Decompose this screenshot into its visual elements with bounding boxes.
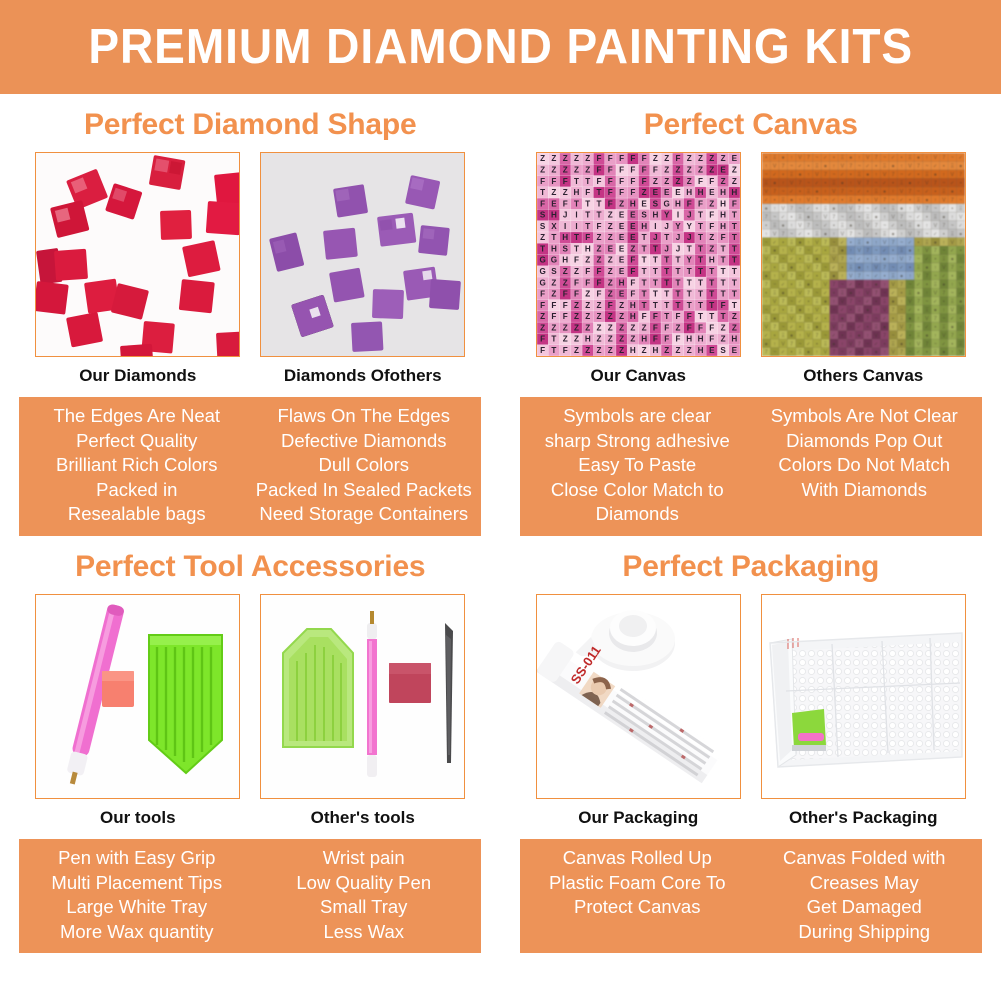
svg-text:Z: Z <box>608 312 613 321</box>
svg-text:✓: ✓ <box>789 324 793 330</box>
svg-text:T: T <box>664 301 669 310</box>
facts-box-diamond-shape: The Edges Are Neat Perfect Quality Brill… <box>19 397 481 536</box>
our-tools-art <box>36 595 240 799</box>
svg-text:T: T <box>698 256 703 265</box>
svg-text:I: I <box>654 222 656 231</box>
svg-text:↑: ↑ <box>900 299 903 305</box>
svg-text:H: H <box>720 199 726 208</box>
svg-text:~: ~ <box>824 198 827 204</box>
svg-text:~: ~ <box>866 206 869 212</box>
svg-text:Z: Z <box>585 165 590 174</box>
other-packaging-art <box>762 595 966 799</box>
svg-text:•: • <box>790 282 792 288</box>
svg-text:Ξ: Ξ <box>908 155 912 161</box>
svg-text:V: V <box>950 307 954 313</box>
svg-text:Ξ: Ξ <box>823 274 827 280</box>
svg-text:•: • <box>765 291 767 297</box>
svg-text:J: J <box>687 233 692 242</box>
svg-text:7: 7 <box>790 341 793 347</box>
svg-text:↑: ↑ <box>883 214 886 220</box>
svg-text:Z: Z <box>608 211 613 220</box>
svg-text:T: T <box>709 301 714 310</box>
svg-text:F: F <box>562 312 567 321</box>
muddy-symbol-grid-art: •Ξ●↑V7~✓•Ξ●↑V7~✓•Ξ●↑V7~✓↑V7~✓•Ξ●↑V7~✓•Ξ●… <box>762 153 965 356</box>
svg-text:7: 7 <box>942 223 945 229</box>
svg-text:Ξ: Ξ <box>840 291 844 297</box>
svg-text:~: ~ <box>781 257 784 263</box>
svg-text:T: T <box>687 290 692 299</box>
svg-text:↑: ↑ <box>951 214 954 220</box>
svg-text:V: V <box>798 223 802 229</box>
svg-text:Z: Z <box>608 222 613 231</box>
svg-text:F: F <box>562 199 567 208</box>
svg-text:•: • <box>875 164 877 170</box>
svg-text:Z: Z <box>574 346 579 355</box>
svg-text:●: ● <box>807 282 810 288</box>
svg-text:T: T <box>720 278 725 287</box>
svg-text:T: T <box>664 256 669 265</box>
svg-text:T: T <box>698 290 703 299</box>
fact-line: Canvas Folded with <box>753 846 976 871</box>
svg-text:Z: Z <box>641 346 646 355</box>
fact-line: Packed In Sealed Packets <box>252 478 475 503</box>
svg-text:7: 7 <box>934 248 937 254</box>
svg-text:7: 7 <box>866 248 869 254</box>
svg-text:J: J <box>687 211 692 220</box>
svg-text:•: • <box>909 198 911 204</box>
svg-text:F: F <box>687 312 692 321</box>
svg-text:✓: ✓ <box>789 189 793 195</box>
svg-text:V: V <box>790 316 794 322</box>
svg-text:Y: Y <box>686 222 692 231</box>
svg-text:~: ~ <box>951 291 954 297</box>
svg-text:Z: Z <box>596 335 601 344</box>
svg-text:Z: Z <box>720 323 725 332</box>
svg-text:↑: ↑ <box>765 299 768 305</box>
svg-text:✓: ✓ <box>865 231 869 237</box>
svg-text:●: ● <box>790 333 793 339</box>
svg-text:~: ~ <box>807 181 810 187</box>
svg-text:7: 7 <box>866 181 869 187</box>
facts-ours-canvas: Symbols are clear sharp Strong adhesive … <box>524 404 751 527</box>
svg-text:✓: ✓ <box>806 206 810 212</box>
svg-text:7: 7 <box>917 299 920 305</box>
svg-text:●: ● <box>900 341 903 347</box>
svg-text:7: 7 <box>908 257 911 263</box>
svg-text:●: ● <box>764 274 767 280</box>
svg-text:Ξ: Ξ <box>891 206 895 212</box>
svg-text:✓: ✓ <box>950 316 954 322</box>
svg-text:Ξ: Ξ <box>764 248 768 254</box>
svg-text:F: F <box>562 177 567 186</box>
svg-text:•: • <box>782 172 784 178</box>
svg-text:↑: ↑ <box>790 291 793 297</box>
svg-text:T: T <box>551 335 556 344</box>
svg-text:•: • <box>807 299 809 305</box>
svg-text:↑: ↑ <box>773 274 776 280</box>
svg-text:V: V <box>959 282 963 288</box>
section-tools: Perfect Tool Accessories <box>0 536 501 953</box>
svg-text:↑: ↑ <box>790 223 793 229</box>
svg-text:~: ~ <box>832 307 835 313</box>
svg-text:•: • <box>799 189 801 195</box>
photo-our-diamonds <box>35 152 240 357</box>
svg-text:7: 7 <box>900 282 903 288</box>
svg-text:7: 7 <box>849 164 852 170</box>
svg-text:✓: ✓ <box>882 248 886 254</box>
svg-text:T: T <box>675 267 680 276</box>
svg-text:F: F <box>664 335 669 344</box>
svg-text:~: ~ <box>883 291 886 297</box>
svg-text:T: T <box>585 199 590 208</box>
svg-text:Ξ: Ξ <box>917 333 921 339</box>
svg-text:T: T <box>551 346 556 355</box>
svg-text:G: G <box>539 278 545 287</box>
svg-text:T: T <box>720 312 725 321</box>
svg-text:V: V <box>773 299 777 305</box>
svg-text:Z: Z <box>619 346 624 355</box>
svg-text:✓: ✓ <box>891 291 895 297</box>
svg-text:Ξ: Ξ <box>832 316 836 322</box>
svg-text:7: 7 <box>807 291 810 297</box>
svg-text:✓: ✓ <box>840 172 844 178</box>
svg-text:↑: ↑ <box>807 240 810 246</box>
svg-text:●: ● <box>790 198 793 204</box>
svg-text:V: V <box>823 282 827 288</box>
svg-text:●: ● <box>764 341 767 347</box>
section-row-1: Perfect Diamond Shape <box>0 94 1001 536</box>
photo-our-canvas: ZZZZZFFFFFZZFZZZZEZZZZZFFFFFFZZZZZEZFFFT… <box>536 152 741 357</box>
svg-text:F: F <box>574 290 579 299</box>
fact-line: Symbols are clear <box>526 404 749 429</box>
caption-our-tools: Our tools <box>35 808 240 828</box>
fact-line: Get Damaged <box>753 895 976 920</box>
svg-text:✓: ✓ <box>848 282 852 288</box>
svg-text:↑: ↑ <box>799 333 802 339</box>
svg-text:●: ● <box>866 307 869 313</box>
svg-text:V: V <box>874 333 878 339</box>
svg-text:V: V <box>790 181 794 187</box>
svg-text:F: F <box>641 177 646 186</box>
svg-text:●: ● <box>908 316 911 322</box>
svg-text:✓: ✓ <box>958 223 962 229</box>
svg-text:T: T <box>540 244 545 253</box>
svg-text:Z: Z <box>574 267 579 276</box>
svg-text:↑: ↑ <box>799 265 802 271</box>
svg-text:●: ● <box>773 181 776 187</box>
svg-text:●: ● <box>798 172 801 178</box>
svg-text:H: H <box>630 301 636 310</box>
svg-text:Ξ: Ξ <box>900 248 904 254</box>
svg-text:E: E <box>709 188 715 197</box>
svg-text:↑: ↑ <box>959 257 962 263</box>
svg-text:•: • <box>900 291 902 297</box>
svg-text:~: ~ <box>934 341 937 347</box>
svg-text:Z: Z <box>675 165 680 174</box>
svg-text:Z: Z <box>596 312 601 321</box>
svg-text:Z: Z <box>619 312 624 321</box>
fact-line: Flaws On The Edges <box>252 404 475 429</box>
svg-text:●: ● <box>849 223 852 229</box>
svg-text:✓: ✓ <box>908 172 912 178</box>
svg-text:~: ~ <box>908 282 911 288</box>
svg-text:•: • <box>824 316 826 322</box>
svg-text:E: E <box>709 346 715 355</box>
svg-text:7: 7 <box>900 350 903 356</box>
svg-text:~: ~ <box>790 299 793 305</box>
svg-text:F: F <box>596 177 601 186</box>
svg-text:Ξ: Ξ <box>866 350 870 356</box>
svg-text:F: F <box>641 165 646 174</box>
svg-text:~: ~ <box>942 248 945 254</box>
svg-text:~: ~ <box>883 223 886 229</box>
svg-text:S: S <box>551 267 557 276</box>
photo-other-diamonds <box>260 152 465 357</box>
svg-text:7: 7 <box>942 291 945 297</box>
photo-other-tools <box>260 594 465 799</box>
svg-text:V: V <box>874 265 878 271</box>
svg-text:T: T <box>664 278 669 287</box>
svg-text:Z: Z <box>608 323 613 332</box>
svg-text:F: F <box>687 323 692 332</box>
svg-text:F: F <box>675 335 680 344</box>
caption-our-diamonds: Our Diamonds <box>35 366 240 386</box>
svg-text:●: ● <box>883 257 886 263</box>
svg-text:~: ~ <box>951 155 954 161</box>
svg-text:E: E <box>652 188 658 197</box>
svg-text:F: F <box>630 267 635 276</box>
svg-text:F: F <box>608 165 613 174</box>
facts-theirs-diamond-shape: Flaws On The Edges Defective Diamonds Du… <box>250 404 477 527</box>
facts-theirs-canvas: Symbols Are Not Clear Diamonds Pop Out C… <box>751 404 978 527</box>
svg-text:T: T <box>653 267 658 276</box>
svg-text:~: ~ <box>790 164 793 170</box>
svg-text:E: E <box>619 211 625 220</box>
svg-text:↑: ↑ <box>832 231 835 237</box>
svg-text:Z: Z <box>720 335 725 344</box>
fact-line: Colors Do Not Match <box>753 453 976 478</box>
svg-text:T: T <box>698 301 703 310</box>
svg-text:7: 7 <box>925 274 928 280</box>
svg-text:●: ● <box>824 231 827 237</box>
svg-text:•: • <box>960 181 962 187</box>
svg-text:T: T <box>709 267 714 276</box>
svg-text:7: 7 <box>858 341 861 347</box>
svg-text:↑: ↑ <box>934 333 937 339</box>
svg-text:T: T <box>732 233 737 242</box>
svg-text:7: 7 <box>858 206 861 212</box>
svg-text:~: ~ <box>790 231 793 237</box>
image-cell-other-packaging: Other's Packaging <box>761 594 966 828</box>
svg-text:Z: Z <box>687 154 692 163</box>
svg-text:7: 7 <box>815 198 818 204</box>
svg-text:V: V <box>908 231 912 237</box>
photo-our-tools <box>35 594 240 799</box>
svg-text:↑: ↑ <box>883 350 886 356</box>
svg-text:J: J <box>653 233 658 242</box>
svg-text:●: ● <box>900 274 903 280</box>
svg-text:•: • <box>960 248 962 254</box>
svg-text:~: ~ <box>832 240 835 246</box>
caption-other-diamonds: Diamonds Ofothers <box>260 366 465 386</box>
svg-text:●: ● <box>807 350 810 356</box>
svg-text:Z: Z <box>653 177 658 186</box>
svg-text:~: ~ <box>841 350 844 356</box>
svg-text:●: ● <box>934 240 937 246</box>
svg-text:E: E <box>720 165 726 174</box>
svg-text:T: T <box>641 290 646 299</box>
svg-text:↑: ↑ <box>765 164 768 170</box>
svg-text:H: H <box>630 312 636 321</box>
svg-text:V: V <box>900 257 904 263</box>
section-diamond-shape: Perfect Diamond Shape <box>0 94 501 536</box>
svg-text:Ξ: Ξ <box>925 307 929 313</box>
svg-text:Ξ: Ξ <box>959 341 963 347</box>
svg-text:Z: Z <box>596 323 601 332</box>
svg-text:T: T <box>574 199 579 208</box>
svg-text:~: ~ <box>832 172 835 178</box>
svg-text:Ξ: Ξ <box>781 198 785 204</box>
svg-text:•: • <box>867 189 869 195</box>
svg-text:T: T <box>732 244 737 253</box>
svg-text:Z: Z <box>709 165 714 174</box>
svg-text:7: 7 <box>925 206 928 212</box>
svg-text:Ξ: Ξ <box>908 291 912 297</box>
svg-text:Z: Z <box>596 346 601 355</box>
svg-text:↑: ↑ <box>866 198 869 204</box>
svg-text:✓: ✓ <box>781 282 785 288</box>
svg-text:~: ~ <box>824 333 827 339</box>
svg-text:•: • <box>909 265 911 271</box>
svg-text:F: F <box>709 211 714 220</box>
svg-text:V: V <box>823 214 827 220</box>
svg-text:Z: Z <box>720 177 725 186</box>
svg-text:Z: Z <box>732 165 737 174</box>
svg-text:✓: ✓ <box>899 198 903 204</box>
svg-text:Ξ: Ξ <box>900 181 904 187</box>
svg-text:Ξ: Ξ <box>883 299 887 305</box>
svg-text:Ξ: Ξ <box>925 172 929 178</box>
svg-text:•: • <box>909 333 911 339</box>
svg-text:✓: ✓ <box>815 248 819 254</box>
svg-text:✓: ✓ <box>764 198 768 204</box>
svg-text:Ξ: Ξ <box>857 172 861 178</box>
svg-text:Z: Z <box>551 323 556 332</box>
svg-text:•: • <box>790 350 792 356</box>
svg-text:•: • <box>883 206 885 212</box>
svg-text:F: F <box>562 346 567 355</box>
svg-text:~: ~ <box>959 333 962 339</box>
svg-text:↑: ↑ <box>807 307 810 313</box>
facts-box-tools: Pen with Easy Grip Multi Placement Tips … <box>19 839 481 953</box>
svg-text:Ξ: Ξ <box>866 214 870 220</box>
svg-text:Z: Z <box>641 323 646 332</box>
svg-text:↑: ↑ <box>773 206 776 212</box>
photo-other-packaging <box>761 594 966 799</box>
svg-text:↑: ↑ <box>832 164 835 170</box>
svg-text:7: 7 <box>951 333 954 339</box>
svg-text:F: F <box>608 188 613 197</box>
svg-text:F: F <box>653 323 658 332</box>
svg-text:●: ● <box>781 223 784 229</box>
svg-text:V: V <box>866 291 870 297</box>
svg-text:Ξ: Ξ <box>849 333 853 339</box>
svg-text:Ξ: Ξ <box>840 155 844 161</box>
svg-text:Ξ: Ξ <box>883 164 887 170</box>
svg-text:•: • <box>892 316 894 322</box>
svg-text:Ξ: Ξ <box>790 172 794 178</box>
svg-text:H: H <box>697 346 703 355</box>
fact-line: Dull Colors <box>252 453 475 478</box>
svg-text:Y: Y <box>675 222 681 231</box>
svg-text:F: F <box>596 267 601 276</box>
svg-text:•: • <box>867 324 869 330</box>
svg-text:E: E <box>619 244 625 253</box>
svg-text:Ξ: Ξ <box>764 181 768 187</box>
svg-text:~: ~ <box>781 324 784 330</box>
svg-text:H: H <box>709 256 715 265</box>
svg-text:V: V <box>891 282 895 288</box>
svg-text:✓: ✓ <box>882 181 886 187</box>
svg-text:•: • <box>917 240 919 246</box>
svg-text:~: ~ <box>900 307 903 313</box>
svg-text:Z: Z <box>596 256 601 265</box>
svg-text:F: F <box>709 335 714 344</box>
svg-text:H: H <box>686 188 692 197</box>
svg-text:V: V <box>773 164 777 170</box>
svg-text:~: ~ <box>807 248 810 254</box>
svg-text:Ξ: Ξ <box>781 333 785 339</box>
svg-text:7: 7 <box>900 214 903 220</box>
svg-text:Ξ: Ξ <box>959 274 963 280</box>
svg-text:~: ~ <box>807 316 810 322</box>
svg-text:T: T <box>641 256 646 265</box>
svg-text:7: 7 <box>815 333 818 339</box>
fact-line: Wrist pain <box>252 846 475 871</box>
svg-text:F: F <box>608 177 613 186</box>
svg-text:•: • <box>824 181 826 187</box>
svg-text:•: • <box>926 214 928 220</box>
svg-text:V: V <box>933 155 937 161</box>
svg-text:Z: Z <box>732 312 737 321</box>
svg-text:T: T <box>585 177 590 186</box>
svg-text:V: V <box>883 172 887 178</box>
svg-text:V: V <box>950 240 954 246</box>
svg-text:V: V <box>857 248 861 254</box>
svg-text:Ξ: Ξ <box>832 248 836 254</box>
svg-text:•: • <box>782 240 784 246</box>
svg-text:↑: ↑ <box>942 240 945 246</box>
fact-line: Plastic Foam Core To <box>526 871 749 896</box>
svg-text:F: F <box>709 222 714 231</box>
svg-text:Z: Z <box>551 188 556 197</box>
svg-text:Z: Z <box>551 154 556 163</box>
svg-text:T: T <box>664 290 669 299</box>
svg-text:V: V <box>807 265 811 271</box>
svg-text:V: V <box>798 291 802 297</box>
svg-text:~: ~ <box>815 155 818 161</box>
svg-text:T: T <box>687 244 692 253</box>
svg-text:Z: Z <box>653 154 658 163</box>
svg-text:V: V <box>950 172 954 178</box>
svg-text:Ξ: Ξ <box>942 189 946 195</box>
svg-text:✓: ✓ <box>848 214 852 220</box>
svg-text:H: H <box>652 346 658 355</box>
svg-text:V: V <box>807 198 811 204</box>
svg-text:Ξ: Ξ <box>883 231 887 237</box>
svg-text:✓: ✓ <box>772 307 776 313</box>
svg-text:✓: ✓ <box>764 265 768 271</box>
